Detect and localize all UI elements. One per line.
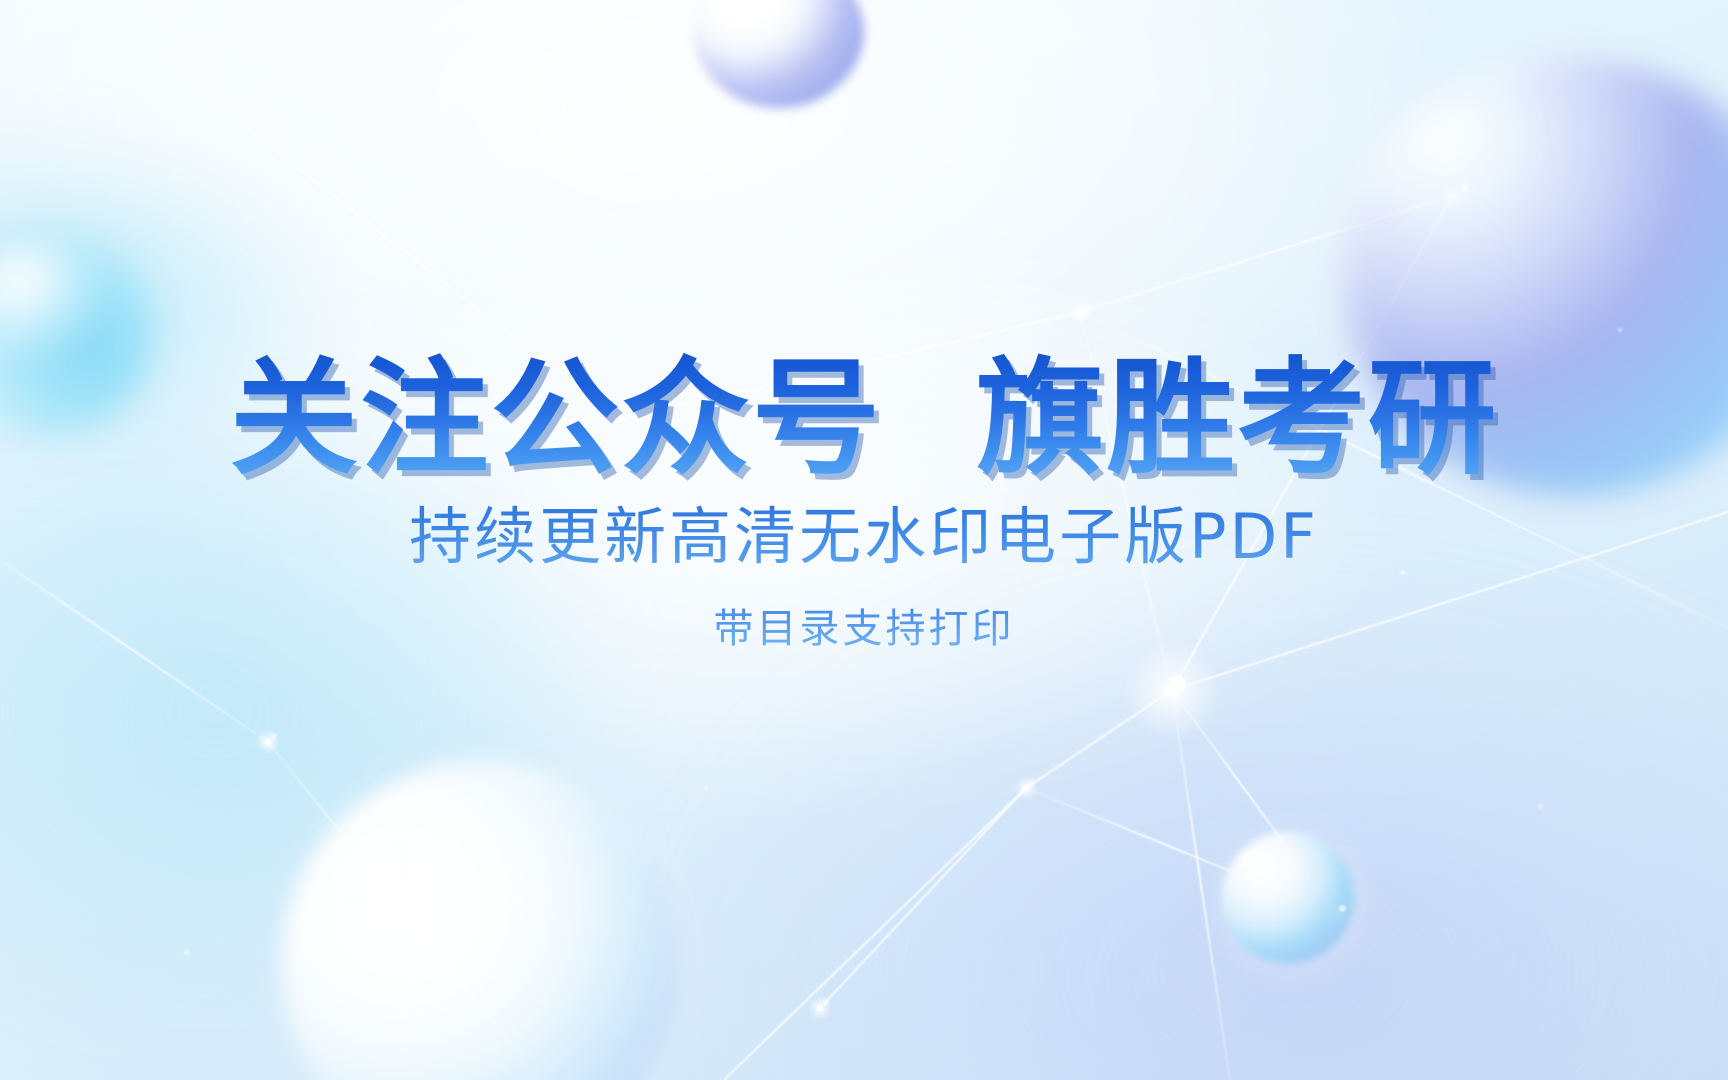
promo-banner: 关注公众号 旗胜考研 持续更新高清无水印电子版PDF 带目录支持打印 [0, 0, 1728, 1080]
promo-copy: 关注公众号 旗胜考研 持续更新高清无水印电子版PDF 带目录支持打印 [0, 0, 1728, 1080]
promo-headline: 关注公众号 旗胜考研 [230, 352, 1499, 486]
promo-subtitle: 持续更新高清无水印电子版PDF [409, 500, 1319, 574]
promo-tagline: 带目录支持打印 [714, 596, 1015, 654]
